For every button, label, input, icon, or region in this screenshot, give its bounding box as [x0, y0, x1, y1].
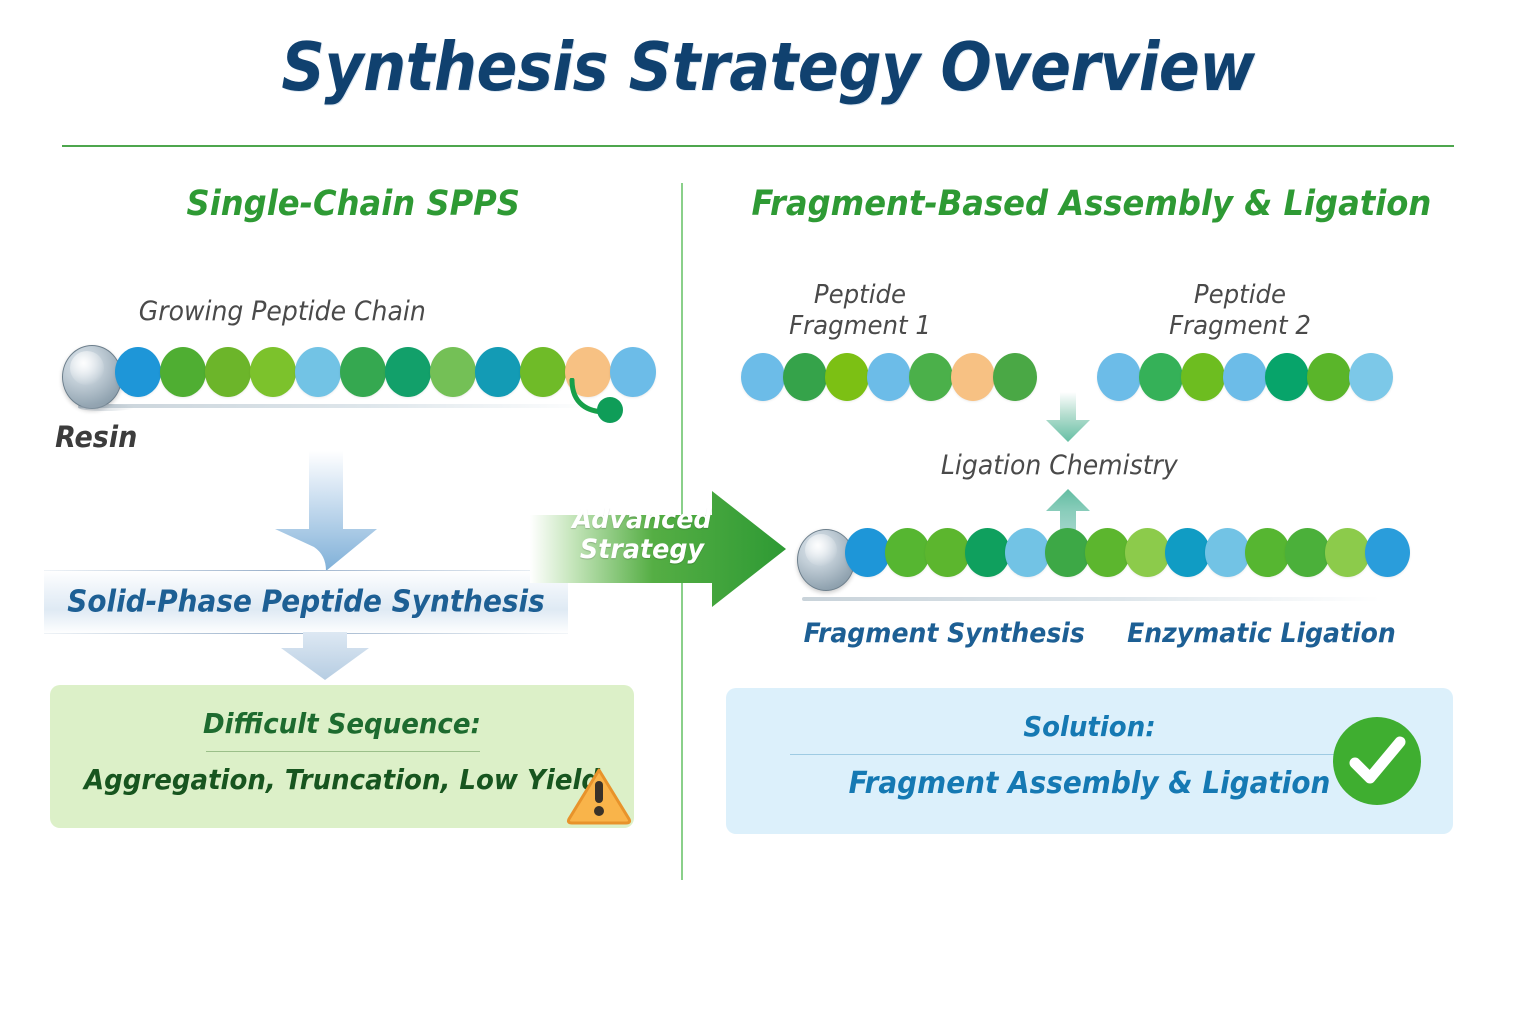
fragment-synthesis-label: Fragment Synthesis [804, 618, 1085, 649]
chain-terminal-connector-icon [562, 378, 632, 426]
peptide-bead [845, 528, 890, 577]
fragment-1-caption: Peptide Fragment 1 [766, 280, 954, 341]
peptide-bead [385, 347, 431, 397]
page-title: Synthesis Strategy Overview [77, 28, 1459, 106]
peptide-bead [1245, 528, 1290, 577]
peptide-bead [1165, 528, 1210, 577]
spps-chain-baseline [78, 404, 600, 408]
peptide-bead [1085, 528, 1130, 577]
difficult-sequence-body: Aggregation, Truncation, Low Yield [70, 763, 613, 796]
peptide-bead [909, 353, 953, 401]
peptide-bead [1205, 528, 1250, 577]
peptide-bead [1005, 528, 1050, 577]
peptide-bead [1223, 353, 1267, 401]
peptide-bead [965, 528, 1010, 577]
peptide-bead [1365, 528, 1410, 577]
peptide-bead [993, 353, 1037, 401]
peptide-bead [295, 347, 341, 397]
peptide-bead [885, 528, 930, 577]
spps-band-rule-top [44, 570, 568, 571]
fragment-2-caption: Peptide Fragment 2 [1146, 280, 1334, 341]
peptide-bead [340, 347, 386, 397]
peptide-bead [867, 353, 911, 401]
peptide-bead [925, 528, 970, 577]
ligation-chemistry-label: Ligation Chemistry [941, 450, 1178, 481]
peptide-bead [1307, 353, 1351, 401]
assembled-chain-baseline [802, 597, 1380, 601]
resin-highlight-icon [70, 351, 104, 385]
warning-triangle-icon [566, 767, 632, 825]
title-divider-rule [62, 145, 1454, 147]
chain-terminal-bead [597, 397, 623, 423]
assembled-resin-highlight-icon [805, 534, 837, 566]
peptide-bead [1139, 353, 1183, 401]
peptide-bead [520, 347, 566, 397]
difficult-sequence-title: Difficult Sequence: [70, 707, 613, 740]
solution-body: Fragment Assembly & Ligation [751, 766, 1427, 801]
peptide-bead [1265, 353, 1309, 401]
spps-band-label: Solid-Phase Peptide Synthesis [62, 585, 549, 620]
spps-down-arrow-2-icon [277, 632, 373, 682]
peptide-bead [951, 353, 995, 401]
solution-title: Solution: [751, 710, 1427, 743]
right-panel-heading: Fragment-Based Assembly & Ligation [752, 184, 1432, 224]
peptide-bead [1325, 528, 1370, 577]
peptide-bead [783, 353, 827, 401]
peptide-bead [115, 347, 161, 397]
peptide-bead [250, 347, 296, 397]
spps-down-arrow-1-icon [271, 451, 381, 573]
difficult-sequence-box: Difficult Sequence: Aggregation, Truncat… [50, 685, 634, 828]
peptide-bead [1097, 353, 1141, 401]
peptide-bead [1045, 528, 1090, 577]
peptide-bead [205, 347, 251, 397]
peptide-bead [825, 353, 869, 401]
solution-box: Solution: Fragment Assembly & Ligation [726, 688, 1453, 834]
peptide-bead [1285, 528, 1330, 577]
spps-process-band: Solid-Phase Peptide Synthesis [44, 570, 568, 634]
peptide-bead [475, 347, 521, 397]
peptide-bead [1349, 353, 1393, 401]
left-panel-heading: Single-Chain SPPS [186, 184, 519, 224]
ligation-down-arrow-icon [1043, 392, 1093, 444]
peptide-bead [741, 353, 785, 401]
peptide-bead [1181, 353, 1225, 401]
peptide-bead [160, 347, 206, 397]
peptide-bead [1125, 528, 1170, 577]
peptide-bead [430, 347, 476, 397]
difficult-sequence-rule [206, 751, 480, 752]
enzymatic-ligation-label: Enzymatic Ligation [1127, 618, 1396, 649]
resin-label: Resin [55, 420, 137, 454]
check-circle-icon [1330, 714, 1424, 808]
advanced-strategy-label: Advanced Strategy [557, 505, 726, 565]
resin-drop-shadow [78, 404, 134, 411]
solution-rule [790, 754, 1350, 755]
growing-chain-label: Growing Peptide Chain [139, 296, 426, 327]
